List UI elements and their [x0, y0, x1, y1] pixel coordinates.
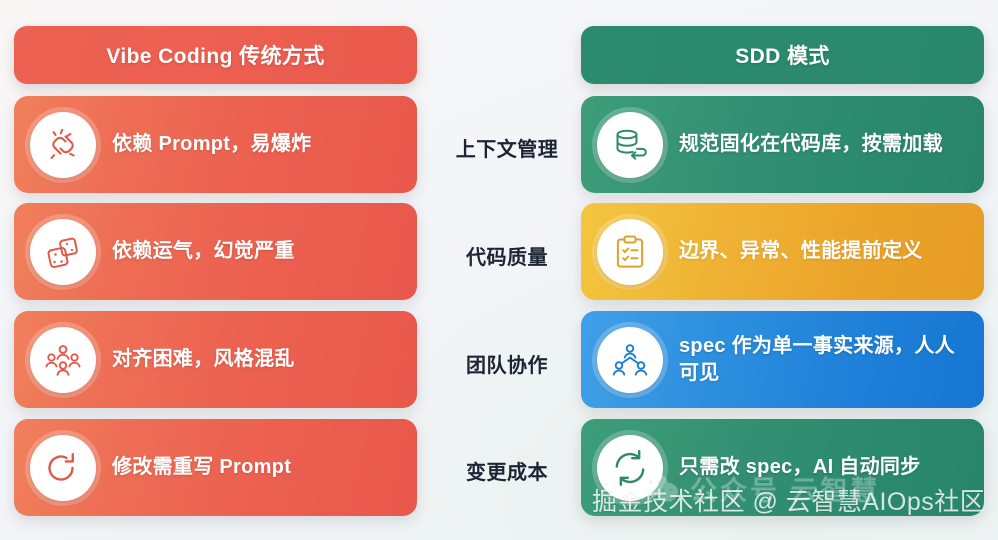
dice-icon: [30, 219, 96, 285]
left-card-context-label: 依赖 Prompt，易爆炸: [112, 131, 311, 157]
right-card-context[interactable]: 规范固化在代码库，按需加载: [581, 96, 984, 193]
left-card-quality-label: 依赖运气，幻觉严重: [112, 238, 295, 264]
right-card-quality[interactable]: 边界、异常、性能提前定义: [581, 203, 984, 300]
left-column-header: Vibe Coding 传统方式: [14, 26, 417, 84]
left-column-header-label: Vibe Coding 传统方式: [106, 40, 324, 70]
people-group-icon: [30, 327, 96, 393]
left-card-context[interactable]: 依赖 Prompt，易爆炸: [14, 96, 417, 193]
center-label-context: 上下文管理: [434, 133, 580, 162]
center-label-change-cost: 变更成本: [434, 456, 580, 485]
right-card-change-cost[interactable]: 只需改 spec，AI 自动同步: [581, 419, 984, 516]
comparison-infographic: Vibe Coding 传统方式 依赖 Prompt，易爆炸: [0, 0, 998, 540]
right-card-change-cost-label: 只需改 spec，AI 自动同步: [679, 454, 921, 480]
sync-arrows-icon: [597, 435, 663, 501]
right-card-context-label: 规范固化在代码库，按需加载: [679, 131, 943, 157]
right-card-collaboration-label: spec 作为单一事实来源，人人可见: [679, 333, 970, 386]
redo-arrow-icon: [30, 435, 96, 501]
people-network-icon: [597, 327, 663, 393]
left-card-collaboration[interactable]: 对齐困难，风格混乱: [14, 311, 417, 408]
right-column-header-label: SDD 模式: [735, 40, 830, 70]
center-label-column: 上下文管理 代码质量 团队协作 变更成本: [434, 0, 580, 540]
left-card-change-cost[interactable]: 修改需重写 Prompt: [14, 419, 417, 516]
right-card-quality-label: 边界、异常、性能提前定义: [679, 238, 923, 264]
right-card-collaboration[interactable]: spec 作为单一事实来源，人人可见: [581, 311, 984, 408]
database-sync-icon: [597, 112, 663, 178]
left-card-change-cost-label: 修改需重写 Prompt: [112, 454, 291, 480]
broken-link-icon: [30, 112, 96, 178]
left-card-collaboration-label: 对齐困难，风格混乱: [112, 346, 295, 372]
center-label-quality: 代码质量: [434, 241, 580, 270]
clipboard-check-icon: [597, 219, 663, 285]
left-card-quality[interactable]: 依赖运气，幻觉严重: [14, 203, 417, 300]
center-label-collaboration: 团队协作: [434, 349, 580, 378]
right-column-header: SDD 模式: [581, 26, 984, 84]
